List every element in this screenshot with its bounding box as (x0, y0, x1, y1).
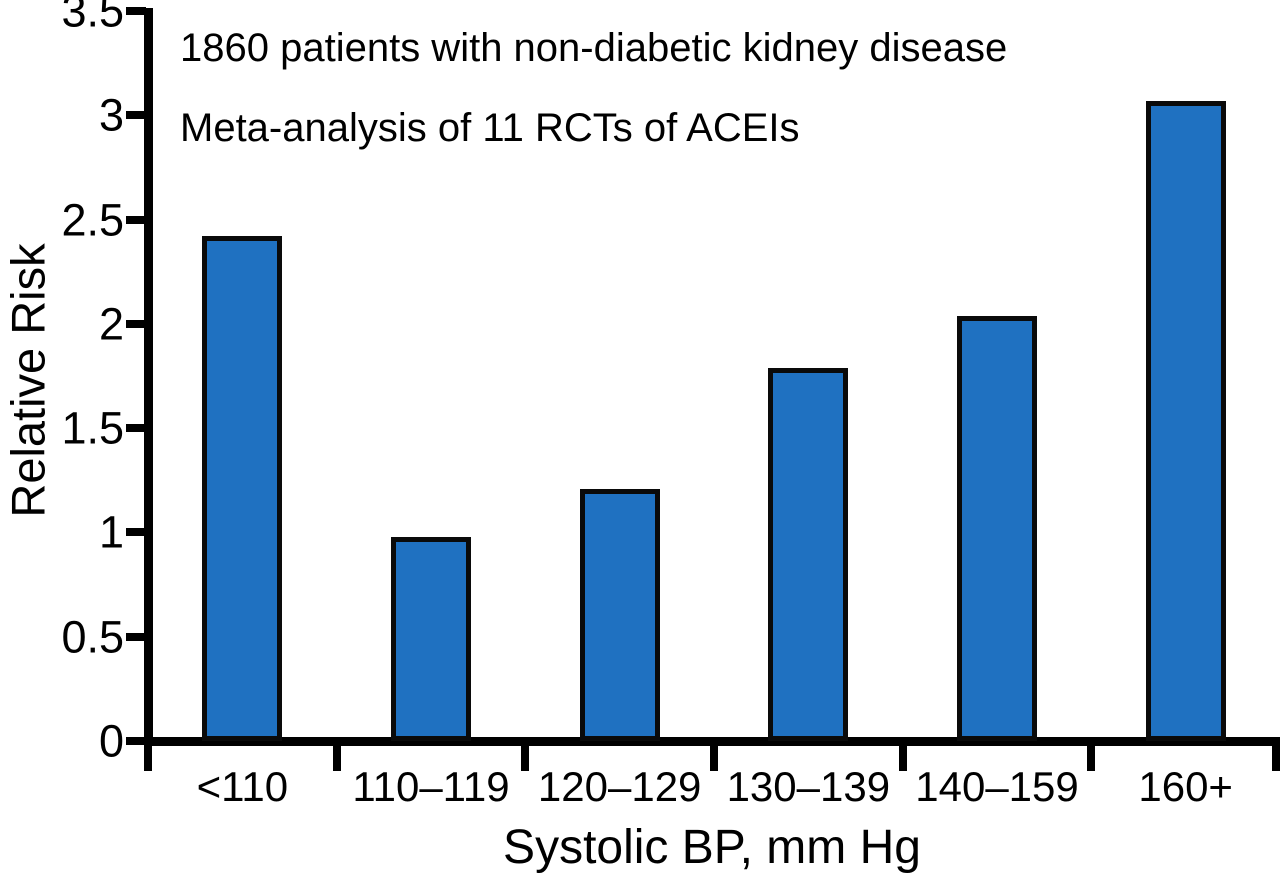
x-axis-tick-label: 130–139 (727, 766, 891, 808)
x-axis-title: Systolic BP, mm Hg (144, 824, 1280, 872)
x-axis-tick-label: 120–129 (538, 766, 702, 808)
x-axis-tick-label: 140–159 (915, 766, 1079, 808)
x-axis-tick-label: 160+ (1138, 766, 1233, 808)
x-axis-tick-label: <110 (197, 766, 289, 808)
bar-chart-figure: Relative Risk 00.511.522.533.5 1860 pati… (0, 0, 1280, 877)
bar (957, 316, 1037, 741)
bar (1146, 101, 1226, 741)
annotation-patients: 1860 patients with non-diabetic kidney d… (180, 28, 1007, 68)
bar (768, 368, 848, 741)
bar (202, 236, 282, 741)
annotation-meta-analysis: Meta-analysis of 11 RCTs of ACEIs (180, 108, 800, 148)
x-axis-tick-label: 110–119 (352, 766, 509, 808)
bar (580, 489, 660, 741)
bar (391, 537, 471, 741)
